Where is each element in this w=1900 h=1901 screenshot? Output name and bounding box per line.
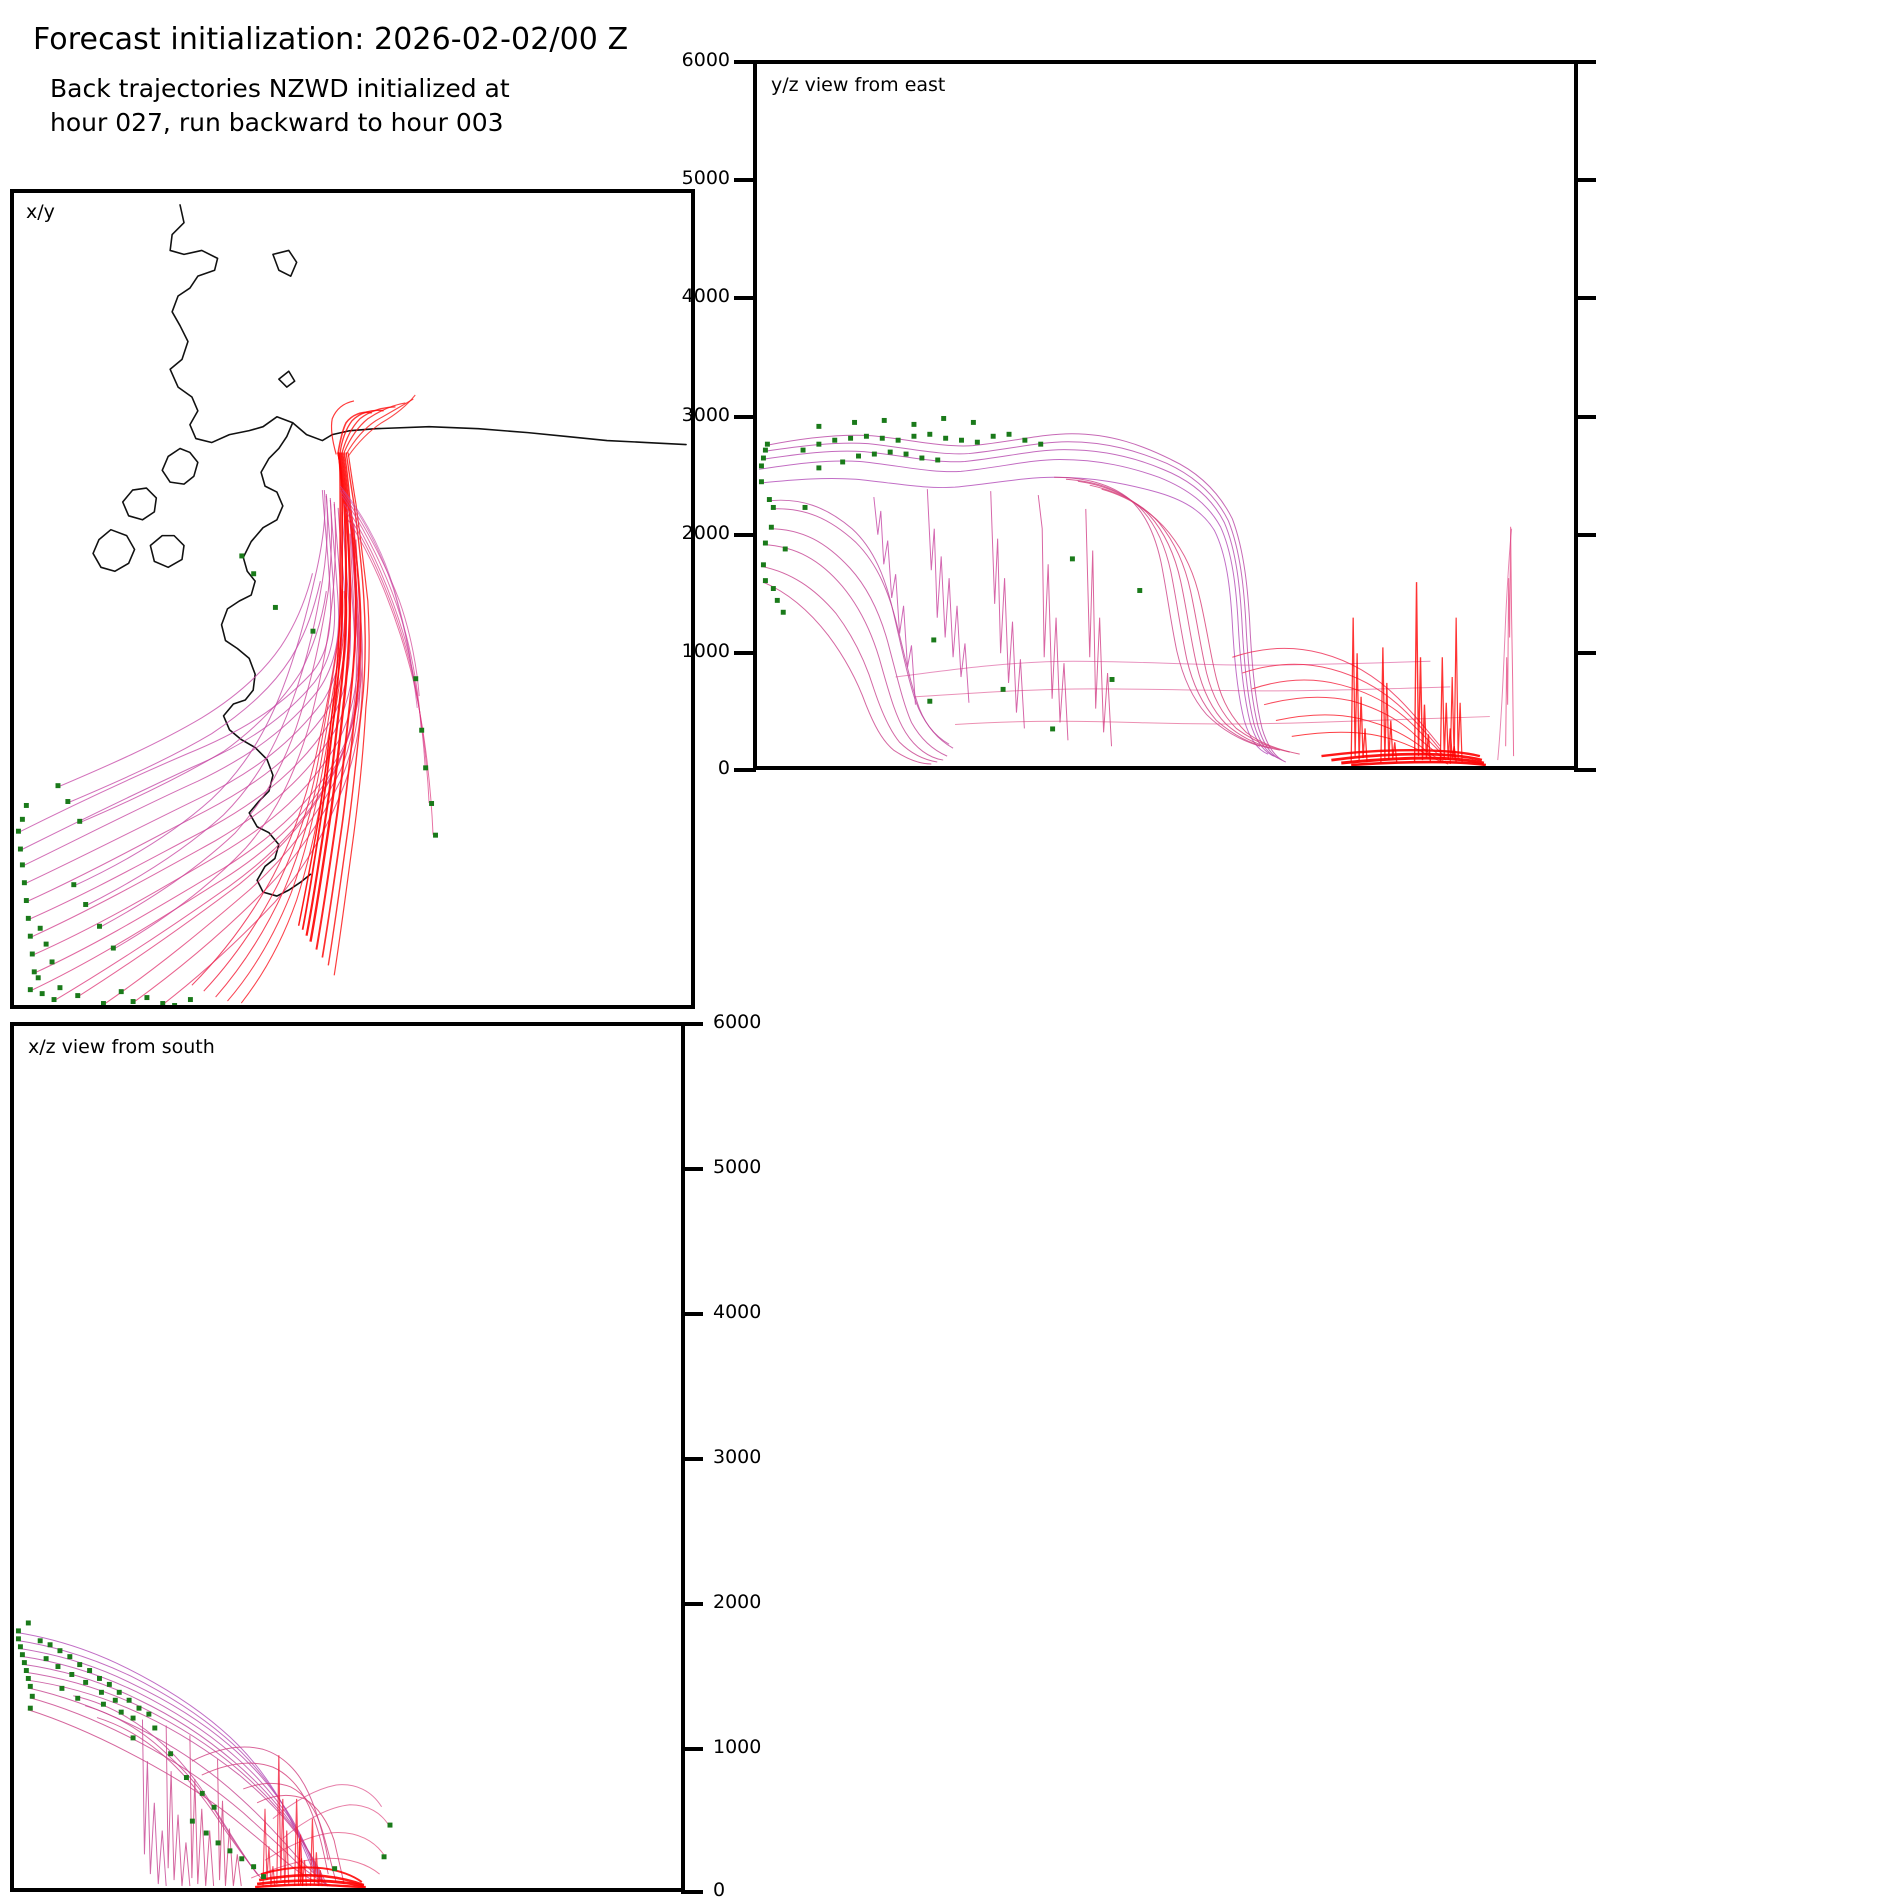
subtitle-line-1: Back trajectories NZWD initialized at (50, 74, 510, 103)
yz-ticklabel-4000: 4000 (660, 285, 730, 307)
xz-tick-0 (681, 1890, 703, 1894)
yz-right-tick-2000 (1574, 533, 1596, 537)
yz-ticklabel-1000: 1000 (660, 640, 730, 662)
xz-ticklabel-1000: 1000 (713, 1736, 761, 1758)
panel-xz-label: x/z view from south (28, 1036, 215, 1058)
yz-tick-3000 (734, 415, 756, 419)
xz-plot-canvas (14, 1026, 681, 1888)
yz-right-tick-0 (1574, 768, 1596, 772)
xz-ticklabel-5000: 5000 (713, 1156, 761, 1178)
xz-tick-5000 (681, 1167, 703, 1171)
page-subtitle: Back trajectories NZWD initialized at ho… (50, 72, 510, 140)
yz-plot-canvas (757, 64, 1574, 766)
yz-tick-0 (734, 768, 756, 772)
xz-tick-1000 (681, 1747, 703, 1751)
yz-right-tick-3000 (1574, 415, 1596, 419)
panel-xy-map[interactable]: x/y (10, 189, 695, 1009)
yz-ticklabel-2000: 2000 (660, 522, 730, 544)
yz-tick-4000 (734, 296, 756, 300)
xz-ticklabel-6000: 6000 (713, 1011, 761, 1033)
xz-right-axis: 6000 5000 4000 3000 2000 1000 0 (681, 1022, 761, 1894)
page-title: Forecast initialization: 2026-02-02/00 Z (33, 22, 628, 57)
coastline-path (93, 205, 686, 896)
yz-right-tick-1000 (1574, 651, 1596, 655)
endpoint-markers (16, 553, 438, 1005)
yz-ticklabel-5000: 5000 (660, 167, 730, 189)
yz-right-tick-5000 (1574, 178, 1596, 182)
yz-ticklabel-3000: 3000 (660, 404, 730, 426)
panel-xy-label: x/y (26, 201, 55, 223)
xz-ticklabel-4000: 4000 (713, 1301, 761, 1323)
subtitle-line-2: hour 027, run backward to hour 003 (50, 108, 504, 137)
xz-ticklabel-3000: 3000 (713, 1446, 761, 1468)
yz-ticklabel-0: 0 (660, 757, 730, 779)
panel-yz-label: y/z view from east (771, 74, 945, 96)
xz-tick-6000 (681, 1022, 703, 1026)
xz-tick-3000 (681, 1457, 703, 1461)
xz-tick-2000 (681, 1602, 703, 1606)
trajectory-bundle-xz (16, 1632, 390, 1887)
yz-ticklabel-6000: 6000 (660, 49, 730, 71)
panel-xz-view[interactable]: x/z view from south (10, 1022, 685, 1892)
yz-right-tick-4000 (1574, 296, 1596, 300)
xz-ticklabel-0: 0 (713, 1879, 725, 1901)
xz-tick-4000 (681, 1312, 703, 1316)
yz-tick-1000 (734, 651, 756, 655)
trajectory-bundle (18, 395, 433, 1005)
yz-left-axis: 6000 5000 4000 3000 2000 1000 0 (700, 60, 756, 772)
yz-right-axis (1574, 60, 1604, 772)
panel-yz-view[interactable]: y/z view from east (753, 60, 1578, 770)
yz-tick-2000 (734, 533, 756, 537)
trajectory-bundle-yz (759, 434, 1514, 765)
xy-plot-canvas (14, 193, 691, 1005)
yz-tick-6000 (734, 60, 756, 64)
yz-right-tick-6000 (1574, 60, 1596, 64)
endpoint-markers-yz (759, 416, 1142, 731)
xz-ticklabel-2000: 2000 (713, 1591, 761, 1613)
yz-tick-5000 (734, 178, 756, 182)
